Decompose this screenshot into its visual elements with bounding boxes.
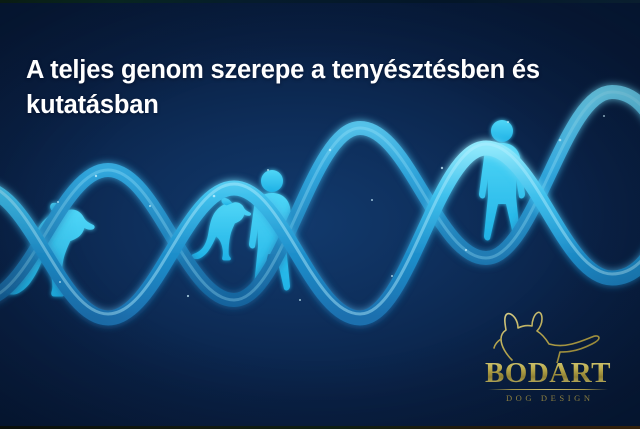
logo-tagline: DOG DESIGN [478,393,618,403]
top-edge-strip [0,0,640,3]
logo-divider [488,389,608,390]
banner-image: A teljes genom szerepe a tenyésztésben é… [0,0,640,429]
dog-outline-icon [486,311,610,363]
brand-logo[interactable]: BODART DOG DESIGN [478,311,618,407]
logo-wordmark: BODART [478,359,618,388]
